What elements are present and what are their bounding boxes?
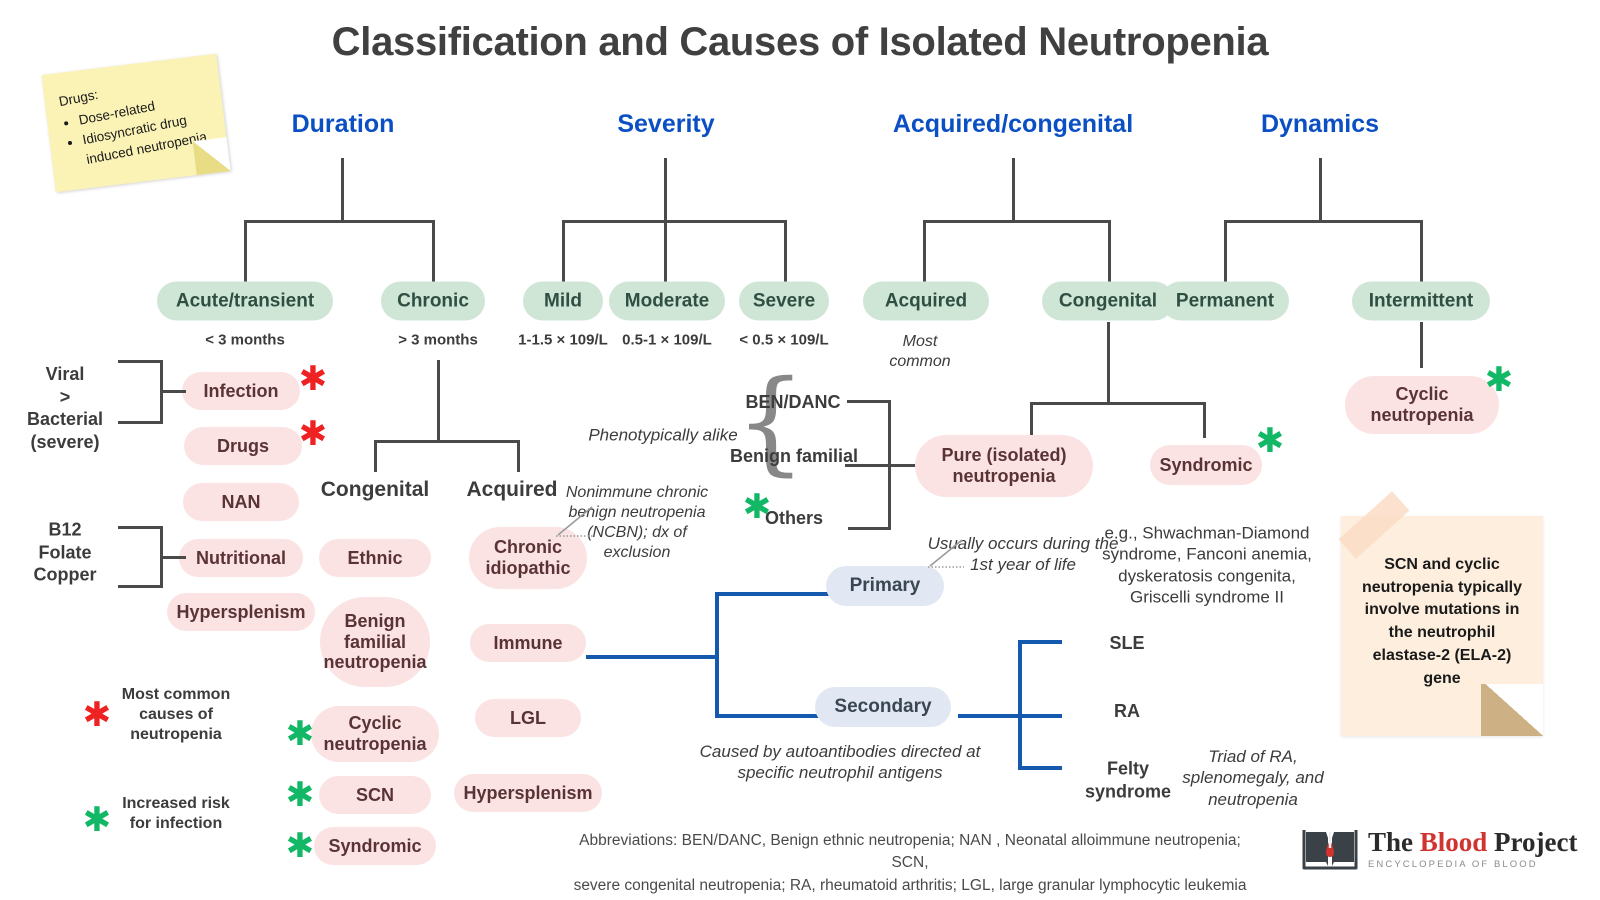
asterisk-red-icon: ✱: [299, 362, 328, 396]
connector-secondary-vertical: [1018, 640, 1022, 770]
node-label: Benign familial neutropenia: [320, 611, 430, 673]
column-header-dynamics: Dynamics: [1261, 110, 1379, 139]
node-syndromic-acqcon[interactable]: Syndromic: [1150, 445, 1262, 485]
asterisk-green-icon: ✱: [743, 490, 772, 524]
node-nan[interactable]: NAN: [183, 483, 299, 521]
logo-text: The Blood Project ENCYCLOPEDIA OF BLOOD: [1368, 829, 1578, 870]
node-secondary[interactable]: Secondary: [815, 687, 951, 727]
node-ethnic[interactable]: Ethnic: [319, 539, 431, 577]
label-chronic-congenital: Congenital: [321, 477, 430, 503]
connector-congenital-bar: [1030, 402, 1206, 405]
note-fold-corner: [193, 137, 231, 175]
connector-benignfam-right: [845, 464, 890, 467]
subtext-moderate: 0.5-1 × 109/L: [622, 332, 712, 351]
asterisk-green-icon: ✱: [286, 717, 315, 751]
column-header-duration: Duration: [292, 110, 395, 139]
connector-duration-right: [432, 220, 435, 282]
note-fold-corner: [1481, 684, 1543, 736]
label-felty-syndrome: Felty syndrome: [1080, 758, 1176, 803]
connector-duration-bar: [244, 220, 434, 223]
column-header-acquired-congenital: Acquired/congenital: [893, 110, 1133, 139]
annotation-phenotypically-alike: Phenotypically alike: [588, 424, 737, 445]
legend-text-increased-risk: Increased risk for infection: [113, 794, 239, 834]
node-label: Cyclic neutropenia: [1345, 384, 1499, 425]
node-immune[interactable]: Immune: [470, 624, 586, 662]
logo-tagline: ENCYCLOPEDIA OF BLOOD: [1368, 860, 1578, 870]
node-acquired[interactable]: Acquired: [863, 282, 989, 321]
logo-title: The Blood Project: [1368, 829, 1578, 856]
label-sle: SLE: [1109, 632, 1144, 655]
annotation-syndromic-examples: e.g., Shwachman-Diamond syndrome, Fancon…: [1087, 523, 1327, 608]
sticky-note-heading: Drugs:: [58, 87, 100, 109]
connector-severity-mid: [664, 220, 667, 282]
node-severe[interactable]: Severe: [739, 282, 829, 321]
label-viral-bacterial: Viral > Bacterial (severe): [27, 363, 103, 453]
connector-congenital-left: [1030, 402, 1033, 438]
node-drugs[interactable]: Drugs: [184, 427, 302, 465]
bracket-infection-bottom: [118, 421, 162, 424]
asterisk-red-icon: ✱: [83, 698, 112, 732]
connector-chronic-stem: [437, 360, 440, 442]
node-chronic[interactable]: Chronic: [381, 282, 485, 321]
connector-duration-stem: [341, 158, 344, 222]
bracket-nutritional-top: [118, 526, 162, 529]
node-mild[interactable]: Mild: [523, 282, 603, 321]
connector-sle-in: [1018, 640, 1062, 644]
node-nutritional[interactable]: Nutritional: [179, 539, 303, 577]
connector-dynamics-right: [1420, 220, 1423, 282]
node-scn[interactable]: SCN: [319, 776, 431, 814]
legend-text-most-common: Most common causes of neutropenia: [113, 685, 239, 745]
node-benign-familial-neutropenia[interactable]: Benign familial neutropenia: [320, 597, 430, 687]
annotation-autoantibodies: Caused by autoantibodies directed at spe…: [670, 741, 1010, 784]
node-intermittent[interactable]: Intermittent: [1352, 282, 1490, 321]
footer-line-1: Abbreviations: BEN/DANC, Benign ethnic n…: [560, 830, 1260, 875]
node-hypersplenism-acute[interactable]: Hypersplenism: [167, 593, 315, 631]
page-title: Classification and Causes of Isolated Ne…: [0, 20, 1600, 65]
connector-secondary-out: [958, 714, 1020, 718]
label-text: Felty syndrome: [1085, 759, 1171, 802]
logo-word-project: Project: [1494, 827, 1577, 857]
open-book-icon: [1302, 826, 1358, 872]
connector-congenital-right: [1203, 402, 1206, 438]
asterisk-green-icon: ✱: [1256, 424, 1285, 458]
subtext-acute-transient: < 3 months: [205, 332, 285, 351]
connector-severity-bar: [562, 220, 786, 223]
subtext-severe: < 0.5 × 109/L: [739, 332, 828, 351]
asterisk-red-icon: ✱: [299, 417, 328, 451]
column-header-severity: Severity: [617, 110, 714, 139]
bracket-infection-top: [118, 360, 162, 363]
footer-abbreviations: Abbreviations: BEN/DANC, Benign ethnic n…: [560, 830, 1260, 897]
subtext-mild: 1-1.5 × 109/L: [518, 332, 608, 351]
node-moderate[interactable]: Moderate: [609, 282, 725, 321]
connector-severity-left: [562, 220, 565, 282]
node-cyclic-neutropenia-congenital[interactable]: Cyclic neutropenia: [311, 706, 439, 762]
connector-chronic-right: [517, 440, 520, 472]
bracket-infection-stem: [160, 390, 186, 393]
node-lgl[interactable]: LGL: [475, 699, 581, 737]
footer-line-2: severe congenital neutropenia; RA, rheum…: [560, 875, 1260, 897]
leader-line-ncbn: [548, 505, 598, 545]
connector-dynamics-left: [1224, 220, 1227, 282]
leader-line-primary: [920, 538, 968, 576]
label-benign-familial: Benign familial: [730, 445, 858, 468]
diagram-canvas: Classification and Causes of Isolated Ne…: [0, 0, 1600, 900]
node-infection[interactable]: Infection: [182, 372, 300, 410]
label-ben-danc: BEN/DANC: [745, 391, 840, 414]
asterisk-green-icon: ✱: [286, 778, 315, 812]
connector-acqcon-left: [923, 220, 926, 282]
label-b12-folate-copper: B12 Folate Copper: [34, 518, 97, 586]
connector-chronic-bar: [374, 440, 520, 443]
connector-bendanc-right: [847, 400, 890, 403]
connector-dynamics-stem: [1319, 158, 1322, 222]
connector-chronic-left: [374, 440, 377, 472]
connector-immune-out: [586, 655, 717, 659]
connector-acqcon-stem: [1012, 158, 1015, 222]
connector-others-right: [848, 527, 890, 530]
node-hypersplenism-chronic[interactable]: Hypersplenism: [454, 774, 602, 812]
bracket-nutritional-stem: [160, 556, 186, 559]
connector-immune-vertical: [715, 592, 719, 718]
subtext-acquired: Most common: [889, 332, 950, 372]
node-cyclic-neutropenia-dynamics[interactable]: Cyclic neutropenia: [1345, 376, 1499, 434]
connector-primary-in: [715, 592, 837, 596]
connector-severity-stem: [664, 158, 667, 222]
logo-word-blood: Blood: [1420, 827, 1488, 857]
connector-severity-right: [784, 220, 787, 282]
connector-ra-in: [1018, 714, 1062, 718]
node-permanent[interactable]: Permanent: [1161, 282, 1289, 321]
logo-word-the: The: [1368, 827, 1413, 857]
label-ra: RA: [1114, 700, 1140, 723]
node-syndromic-congenital[interactable]: Syndromic: [314, 827, 436, 865]
sticky-note-ela2: SCN and cyclic neutropenia typically inv…: [1341, 516, 1543, 736]
asterisk-green-icon: ✱: [286, 829, 315, 863]
node-pure-isolated-neutropenia[interactable]: Pure (isolated) neutropenia: [915, 435, 1093, 497]
node-label: Cyclic neutropenia: [311, 713, 439, 754]
connector-intermittent-to-cyclic: [1420, 322, 1423, 368]
node-acute-transient[interactable]: Acute/transient: [157, 282, 333, 321]
connector-congenital-stem: [1107, 322, 1110, 404]
connector-duration-left: [244, 220, 247, 282]
sticky-note-drugs: Drugs: Dose-related Idiosyncratic drug i…: [41, 54, 230, 193]
asterisk-green-icon: ✱: [83, 803, 112, 837]
label-chronic-acquired: Acquired: [466, 477, 557, 503]
connector-felty-in: [1018, 766, 1062, 770]
connector-dynamics-bar: [1224, 220, 1422, 223]
annotation-felty-triad: Triad of RA, splenomegaly, and neutropen…: [1173, 746, 1333, 810]
node-label: Pure (isolated) neutropenia: [915, 445, 1093, 486]
subtext-chronic: > 3 months: [398, 332, 478, 351]
bracket-nutritional-bottom: [118, 585, 162, 588]
connector-acqcon-bar: [923, 220, 1111, 223]
node-congenital[interactable]: Congenital: [1042, 282, 1174, 321]
connector-acqcon-right: [1108, 220, 1111, 282]
connector-alike-to-pure: [888, 464, 918, 467]
asterisk-green-icon: ✱: [1485, 363, 1514, 397]
logo-the-blood-project: The Blood Project ENCYCLOPEDIA OF BLOOD: [1302, 826, 1578, 872]
label-others: Others: [765, 507, 823, 530]
